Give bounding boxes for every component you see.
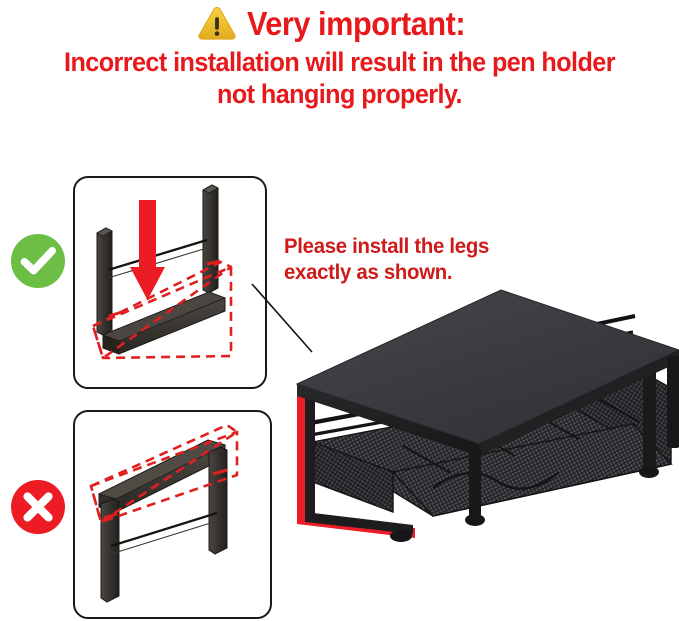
correct-leg-drawing	[75, 178, 265, 387]
product-illustration	[283, 276, 679, 542]
green-check-circle-icon	[8, 231, 68, 291]
monitor-stand-desk-organizer	[283, 276, 679, 542]
incorrect-leg-drawing	[75, 412, 270, 617]
instruction-line-1: Please install the legs	[284, 234, 575, 260]
foot-pad	[639, 466, 659, 478]
subtitle-line-1: Incorrect installation will result in th…	[23, 46, 657, 78]
header-subtitle: Incorrect installation will result in th…	[0, 46, 679, 111]
header-title-row: Very important:	[0, 0, 679, 46]
front-right-leg	[469, 448, 481, 516]
correct-leg-orientation-diagram	[73, 176, 267, 389]
incorrect-leg-orientation-diagram	[73, 410, 272, 619]
header: Very important: Incorrect installation w…	[0, 0, 679, 111]
page-title: Very important:	[247, 7, 465, 40]
red-x-circle-icon	[8, 477, 68, 537]
red-down-arrow	[130, 200, 165, 300]
warning-triangle-icon	[197, 5, 237, 41]
subtitle-line-2: not hanging properly.	[23, 78, 657, 110]
instruction-graphic: Very important: Incorrect installation w…	[0, 0, 679, 621]
